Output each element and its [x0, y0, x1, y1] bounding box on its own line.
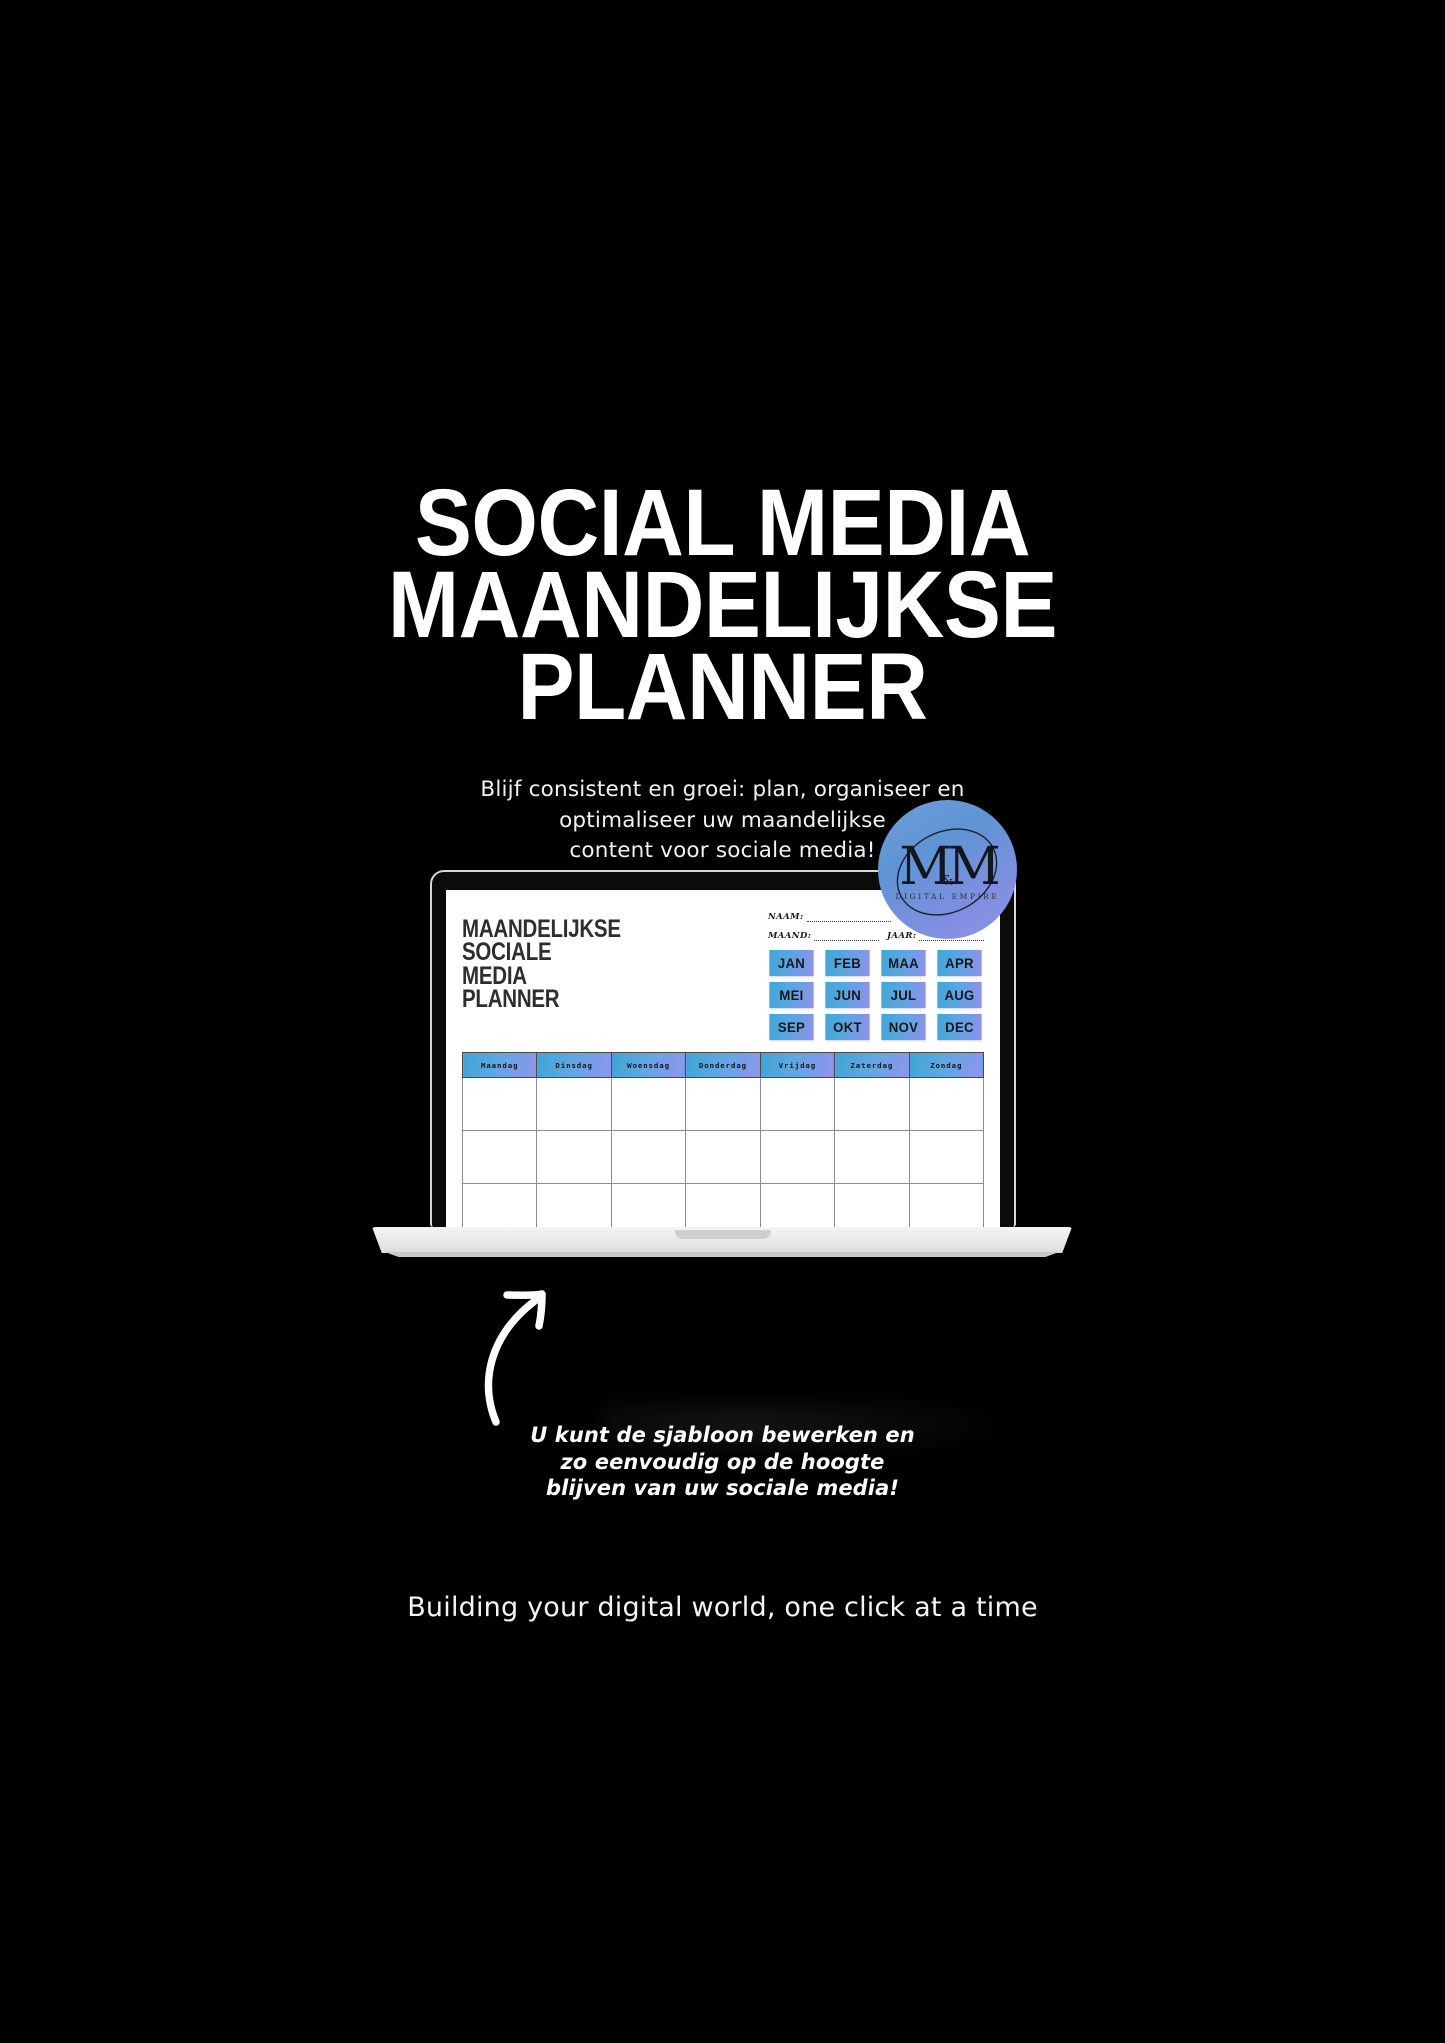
laptop-mockup: MAANDELIJKSE SOCIALE MEDIA PLANNER NAAM:… [0, 860, 1445, 1280]
caption-line-2: zo eenvoudig op de hoogte [0, 1449, 1445, 1476]
calendar-cell[interactable] [611, 1078, 685, 1131]
month-tile-mei[interactable]: MEI [769, 982, 813, 1008]
month-tile-aug[interactable]: AUG [937, 982, 981, 1008]
calendar-row [463, 1184, 984, 1228]
logo-ampersand: & [942, 873, 954, 888]
calendar-cell[interactable] [686, 1184, 760, 1228]
calendar-cell[interactable] [463, 1131, 537, 1184]
calendar-cell[interactable] [760, 1078, 834, 1131]
month-tile-apr[interactable]: APR [937, 950, 981, 976]
laptop-foot [378, 1252, 1066, 1257]
calendar-cell[interactable] [835, 1131, 909, 1184]
planner-title: MAANDELIJKSE SOCIALE MEDIA PLANNER [462, 904, 621, 1011]
calendar-row [463, 1131, 984, 1184]
month-tile-jun[interactable]: JUN [825, 982, 869, 1008]
month-tile-okt[interactable]: OKT [825, 1014, 869, 1040]
calendar-cell[interactable] [537, 1078, 611, 1131]
footer-tagline: Building your digital world, one click a… [0, 1592, 1445, 1623]
weekday-header-dinsdag: Dinsdag [537, 1053, 611, 1078]
calendar-grid: MaandagDinsdagWoensdagDonderdagVrijdagZa… [462, 1052, 984, 1227]
weekday-header-maandag: Maandag [463, 1053, 537, 1078]
calendar-cell[interactable] [760, 1184, 834, 1228]
month-tile-nov[interactable]: NOV [881, 1014, 925, 1040]
laptop-screen: MAANDELIJKSE SOCIALE MEDIA PLANNER NAAM:… [446, 890, 1000, 1227]
planner-title-line-2: SOCIALE [462, 941, 621, 964]
weekday-header-woensdag: Woensdag [611, 1053, 685, 1078]
naam-label: NAAM: [768, 912, 804, 922]
calendar-body [463, 1078, 984, 1228]
logo-tagline: DIGITAL EMPIRE [878, 892, 1017, 901]
calendar-cell[interactable] [686, 1078, 760, 1131]
weekday-header-vrijdag: Vrijdag [760, 1053, 834, 1078]
month-tile-feb[interactable]: FEB [825, 950, 869, 976]
subtitle-line-2: optimaliseer uw maandelijkse [0, 806, 1445, 837]
page-title: SOCIAL MEDIA MAANDELIJKSE PLANNER [0, 482, 1445, 729]
planner-title-line-4: PLANNER [462, 988, 621, 1011]
maand-label: MAAND: [768, 931, 811, 941]
subtitle-line-1: Blijf consistent en groei: plan, organis… [0, 775, 1445, 806]
calendar-cell[interactable] [537, 1184, 611, 1228]
calendar-cell[interactable] [835, 1078, 909, 1131]
maand-input-line[interactable] [814, 933, 879, 941]
calendar-cell[interactable] [909, 1078, 983, 1131]
calendar-cell[interactable] [835, 1184, 909, 1228]
edit-caption: U kunt de sjabloon bewerken en zo eenvou… [0, 1422, 1445, 1502]
calendar-cell[interactable] [611, 1131, 685, 1184]
subtitle: Blijf consistent en groei: plan, organis… [0, 775, 1445, 867]
month-tile-jan[interactable]: JAN [769, 950, 813, 976]
month-tile-maa[interactable]: MAA [881, 950, 925, 976]
caption-line-3: blijven van uw sociale media! [0, 1475, 1445, 1502]
calendar-cell[interactable] [909, 1131, 983, 1184]
calendar-cell[interactable] [537, 1131, 611, 1184]
laptop-notch [675, 1230, 771, 1239]
calendar-cell[interactable] [611, 1184, 685, 1228]
weekday-header-donderdag: Donderdag [686, 1053, 760, 1078]
weekday-header-zaterdag: Zaterdag [835, 1053, 909, 1078]
calendar-header-row: MaandagDinsdagWoensdagDonderdagVrijdagZa… [463, 1053, 984, 1078]
month-tile-sep[interactable]: SEP [769, 1014, 813, 1040]
headline-line-3: PLANNER [72, 646, 1373, 728]
brand-logo-badge: MM & DIGITAL EMPIRE [878, 800, 1017, 939]
calendar-cell[interactable] [909, 1184, 983, 1228]
calendar-row [463, 1078, 984, 1131]
calendar-cell[interactable] [463, 1078, 537, 1131]
calendar-cell[interactable] [760, 1131, 834, 1184]
month-selector: JANFEBMAAAPRMEIJUNJULAUGSEPOKTNOVDEC [768, 950, 984, 1040]
month-tile-jul[interactable]: JUL [881, 982, 925, 1008]
calendar-cell[interactable] [686, 1131, 760, 1184]
caption-line-1: U kunt de sjabloon bewerken en [0, 1422, 1445, 1449]
weekday-header-zondag: Zondag [909, 1053, 983, 1078]
planner-sheet: MAANDELIJKSE SOCIALE MEDIA PLANNER NAAM:… [446, 890, 1000, 1227]
calendar-cell[interactable] [463, 1184, 537, 1228]
curved-arrow-icon [462, 1272, 582, 1427]
month-tile-dec[interactable]: DEC [937, 1014, 981, 1040]
